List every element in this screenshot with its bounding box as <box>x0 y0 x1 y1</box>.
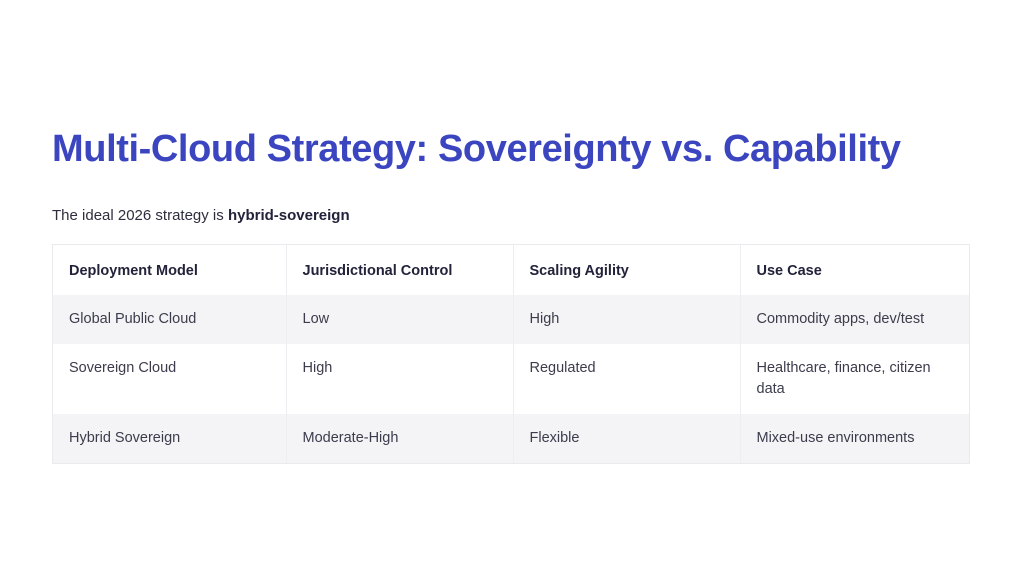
column-header-use-case: Use Case <box>740 245 970 295</box>
table-row: Hybrid Sovereign Moderate-High Flexible … <box>53 414 970 463</box>
cell-scaling-agility: Flexible <box>513 414 740 463</box>
cell-use-case: Commodity apps, dev/test <box>740 295 970 344</box>
cell-scaling-agility: High <box>513 295 740 344</box>
table-row: Sovereign Cloud High Regulated Healthcar… <box>53 344 970 414</box>
page-title: Multi-Cloud Strategy: Sovereignty vs. Ca… <box>52 126 901 172</box>
cell-jurisdictional-control: Low <box>286 295 513 344</box>
cell-use-case: Healthcare, finance, citizen data <box>740 344 970 414</box>
comparison-table: Deployment Model Jurisdictional Control … <box>53 245 970 463</box>
table-header-row: Deployment Model Jurisdictional Control … <box>53 245 970 295</box>
cell-jurisdictional-control: Moderate-High <box>286 414 513 463</box>
slide-subtitle-lead: The ideal 2026 strategy is <box>52 207 228 224</box>
table-row: Global Public Cloud Low High Commodity a… <box>53 295 970 344</box>
cell-jurisdictional-control: High <box>286 344 513 414</box>
slide-subtitle: The ideal 2026 strategy is hybrid-sovere… <box>52 206 350 226</box>
cell-deployment-model: Sovereign Cloud <box>53 344 286 414</box>
slide-subtitle-emphasis: hybrid-sovereign <box>228 207 350 224</box>
cell-deployment-model: Global Public Cloud <box>53 295 286 344</box>
cell-scaling-agility: Regulated <box>513 344 740 414</box>
comparison-table-container: Deployment Model Jurisdictional Control … <box>52 244 970 464</box>
table-body: Global Public Cloud Low High Commodity a… <box>53 295 970 463</box>
cell-use-case: Mixed-use environments <box>740 414 970 463</box>
table-header: Deployment Model Jurisdictional Control … <box>53 245 970 295</box>
slide-root: Multi-Cloud Strategy: Sovereignty vs. Ca… <box>0 0 1024 576</box>
column-header-deployment-model: Deployment Model <box>53 245 286 295</box>
column-header-scaling-agility: Scaling Agility <box>513 245 740 295</box>
column-header-jurisdictional-control: Jurisdictional Control <box>286 245 513 295</box>
cell-deployment-model: Hybrid Sovereign <box>53 414 286 463</box>
